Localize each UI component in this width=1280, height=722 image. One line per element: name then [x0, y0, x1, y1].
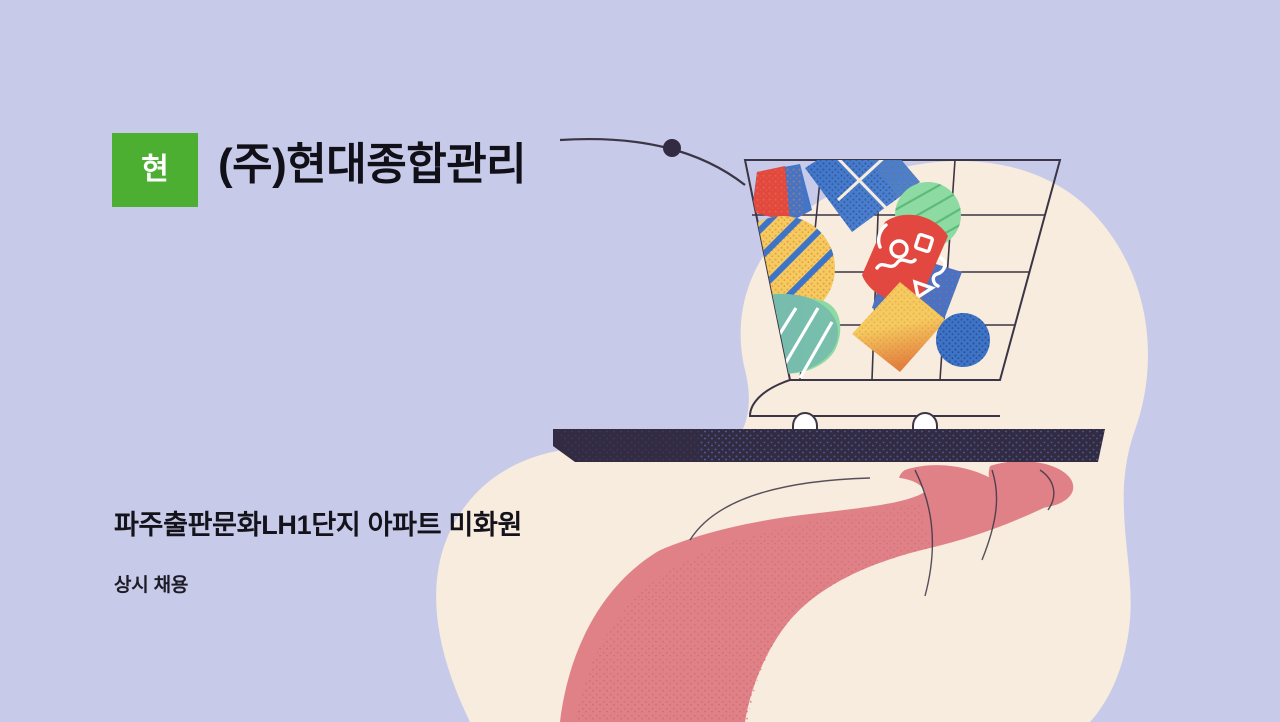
job-status-badge: 상시 채용 — [114, 575, 188, 598]
company-name: (주)현대종합관리 — [218, 141, 526, 189]
job-posting-poster: 현 (주)현대종합관리 파주출판문화LH1단지 아파트 미화원 상시 채용 — [0, 0, 1280, 722]
poster-illustration — [0, 0, 1280, 722]
company-logo-badge: 현 — [112, 133, 198, 207]
company-logo-char: 현 — [141, 155, 169, 185]
blue-speckled-circle — [936, 313, 990, 367]
job-title: 파주출판문화LH1단지 아파트 미화원 — [114, 509, 522, 541]
cart-tray-bar — [553, 429, 1105, 462]
